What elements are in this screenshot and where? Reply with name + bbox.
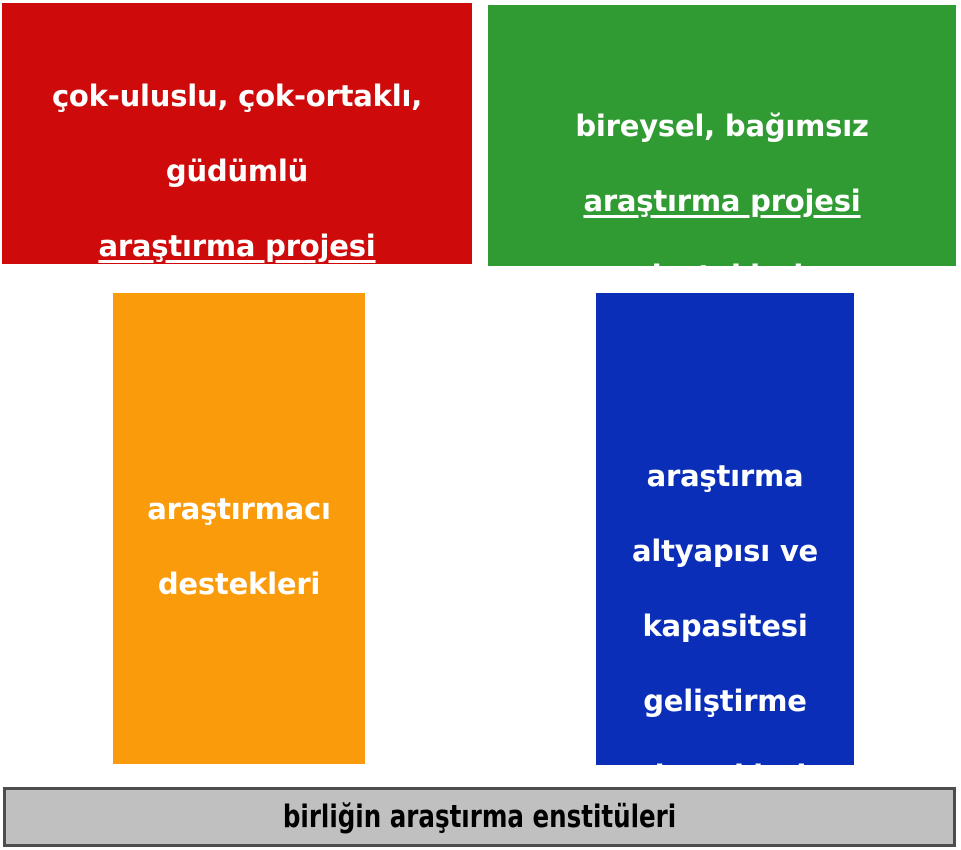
box-union-research-institutes[interactable]: birliğin araştırma enstitüleri bbox=[3, 787, 956, 847]
line-2: destekleri bbox=[158, 567, 320, 601]
line-2: güdümlü bbox=[166, 154, 308, 188]
box-union-research-institutes-label: birliğin araştırma enstitüleri bbox=[63, 799, 896, 835]
line-2-underlined: araştırma projesi bbox=[583, 184, 860, 218]
line-3: destekleri bbox=[641, 259, 803, 293]
box-researcher-supports[interactable]: araştırmacı destekleri bbox=[113, 293, 365, 764]
line-1: araştırmacı bbox=[147, 492, 331, 526]
box-individual-independent-research-projects-label: bireysel, bağımsız araştırma projesi des… bbox=[488, 71, 956, 295]
line-3-underlined: araştırma projesi bbox=[98, 229, 375, 263]
box-researcher-supports-label: araştırmacı destekleri bbox=[113, 454, 365, 604]
line-1: araştırma bbox=[647, 459, 804, 493]
box-individual-independent-research-projects[interactable]: bireysel, bağımsız araştırma projesi des… bbox=[488, 5, 956, 266]
box-multinational-directed-research-projects[interactable]: çok-uluslu, çok-ortaklı, güdümlü araştır… bbox=[2, 3, 472, 264]
line-4: geliştirme bbox=[643, 684, 807, 718]
diagram-canvas: çok-uluslu, çok-ortaklı, güdümlü araştır… bbox=[0, 0, 961, 850]
line-3: kapasitesi bbox=[642, 609, 807, 643]
box-research-infrastructure-capacity-label: araştırma altyapısı ve kapasitesi gelişt… bbox=[596, 421, 854, 795]
line-1: çok-uluslu, çok-ortaklı, bbox=[52, 79, 422, 113]
line-1: bireysel, bağımsız bbox=[575, 109, 868, 143]
box-research-infrastructure-capacity[interactable]: araştırma altyapısı ve kapasitesi gelişt… bbox=[596, 293, 854, 765]
line-2: altyapısı ve bbox=[632, 534, 818, 568]
